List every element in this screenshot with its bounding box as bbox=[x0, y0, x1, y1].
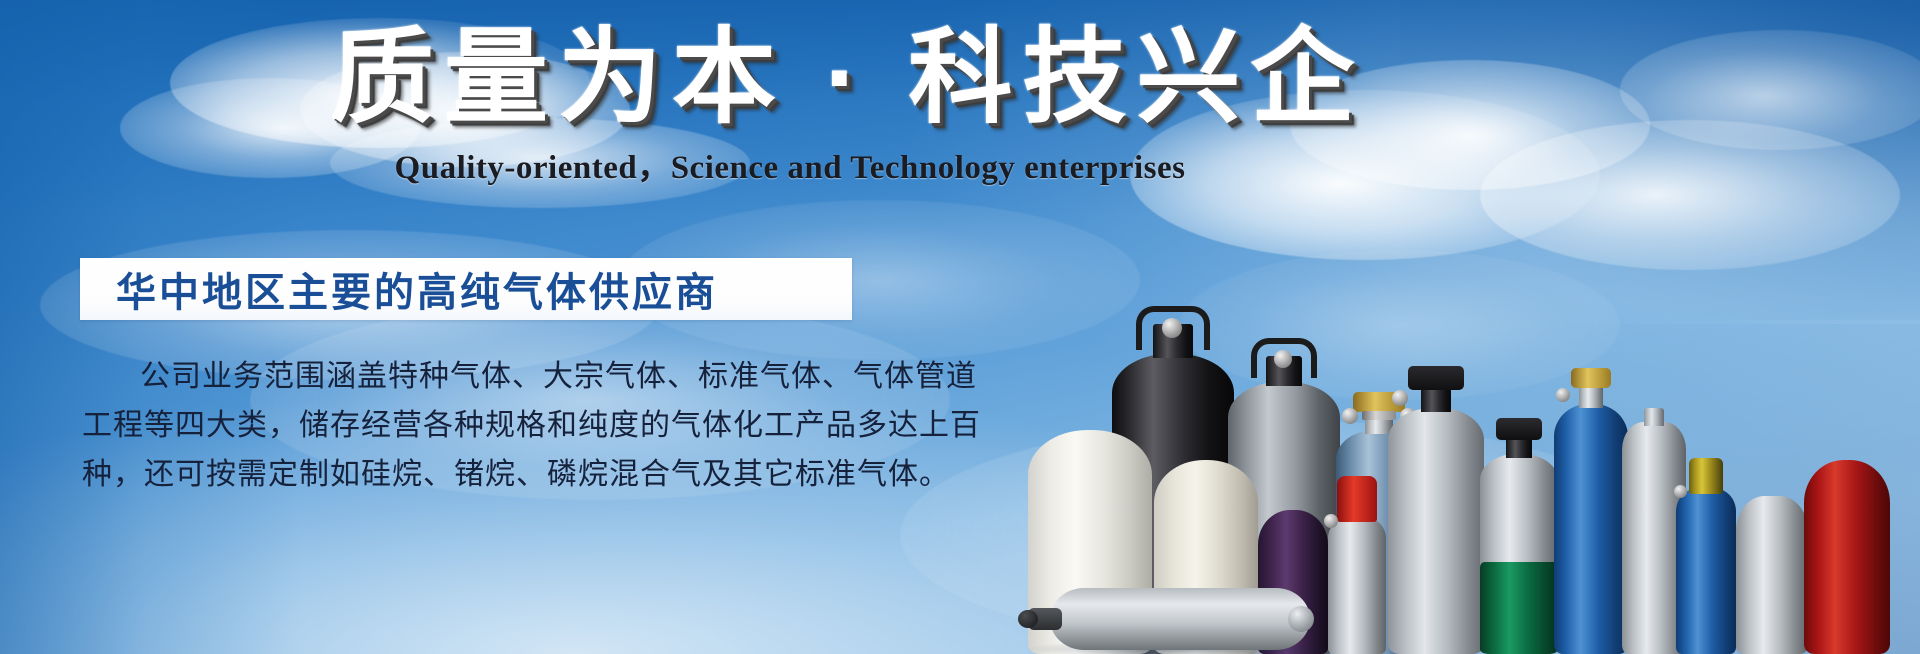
paragraph-line: 工程等四大类，储存经营各种规格和纯度的气体化工产品多达上百 bbox=[82, 401, 872, 450]
cylinder-red bbox=[1804, 454, 1890, 654]
cylinder-blue bbox=[1554, 354, 1628, 654]
cloud-icon bbox=[1620, 30, 1920, 150]
cylinder-yellowcap-blue bbox=[1676, 444, 1736, 654]
paragraph-line: 种，还可按需定制如硅烷、锗烷、磷烷混合气及其它标准气体。 bbox=[82, 450, 872, 499]
highlight-banner-box: 华中地区主要的高纯气体供应商 bbox=[80, 258, 852, 320]
cylinder-gray-handle bbox=[1388, 368, 1484, 654]
paragraph-line: 公司业务范围涵盖特种气体、大宗气体、标准气体、气体管道 bbox=[82, 352, 872, 401]
cylinder-silver-short bbox=[1736, 490, 1808, 654]
highlight-banner-text: 华中地区主要的高纯气体供应商 bbox=[80, 260, 718, 318]
description-paragraph: 公司业务范围涵盖特种气体、大宗气体、标准气体、气体管道 工程等四大类，储存经营各… bbox=[82, 352, 872, 499]
page-title: 质量为本 · 科技兴企 bbox=[330, 22, 1250, 134]
hero-banner: 质量为本 · 科技兴企 Quality-oriented，Science and… bbox=[0, 0, 1920, 654]
gas-cylinder-group-photo bbox=[1150, 150, 1920, 654]
cylinder-horizontal bbox=[1028, 580, 1328, 654]
cylinder-redcap-silver bbox=[1328, 464, 1386, 654]
page-subtitle: Quality-oriented，Science and Technology … bbox=[330, 140, 1250, 188]
cylinder-green bbox=[1480, 404, 1558, 654]
